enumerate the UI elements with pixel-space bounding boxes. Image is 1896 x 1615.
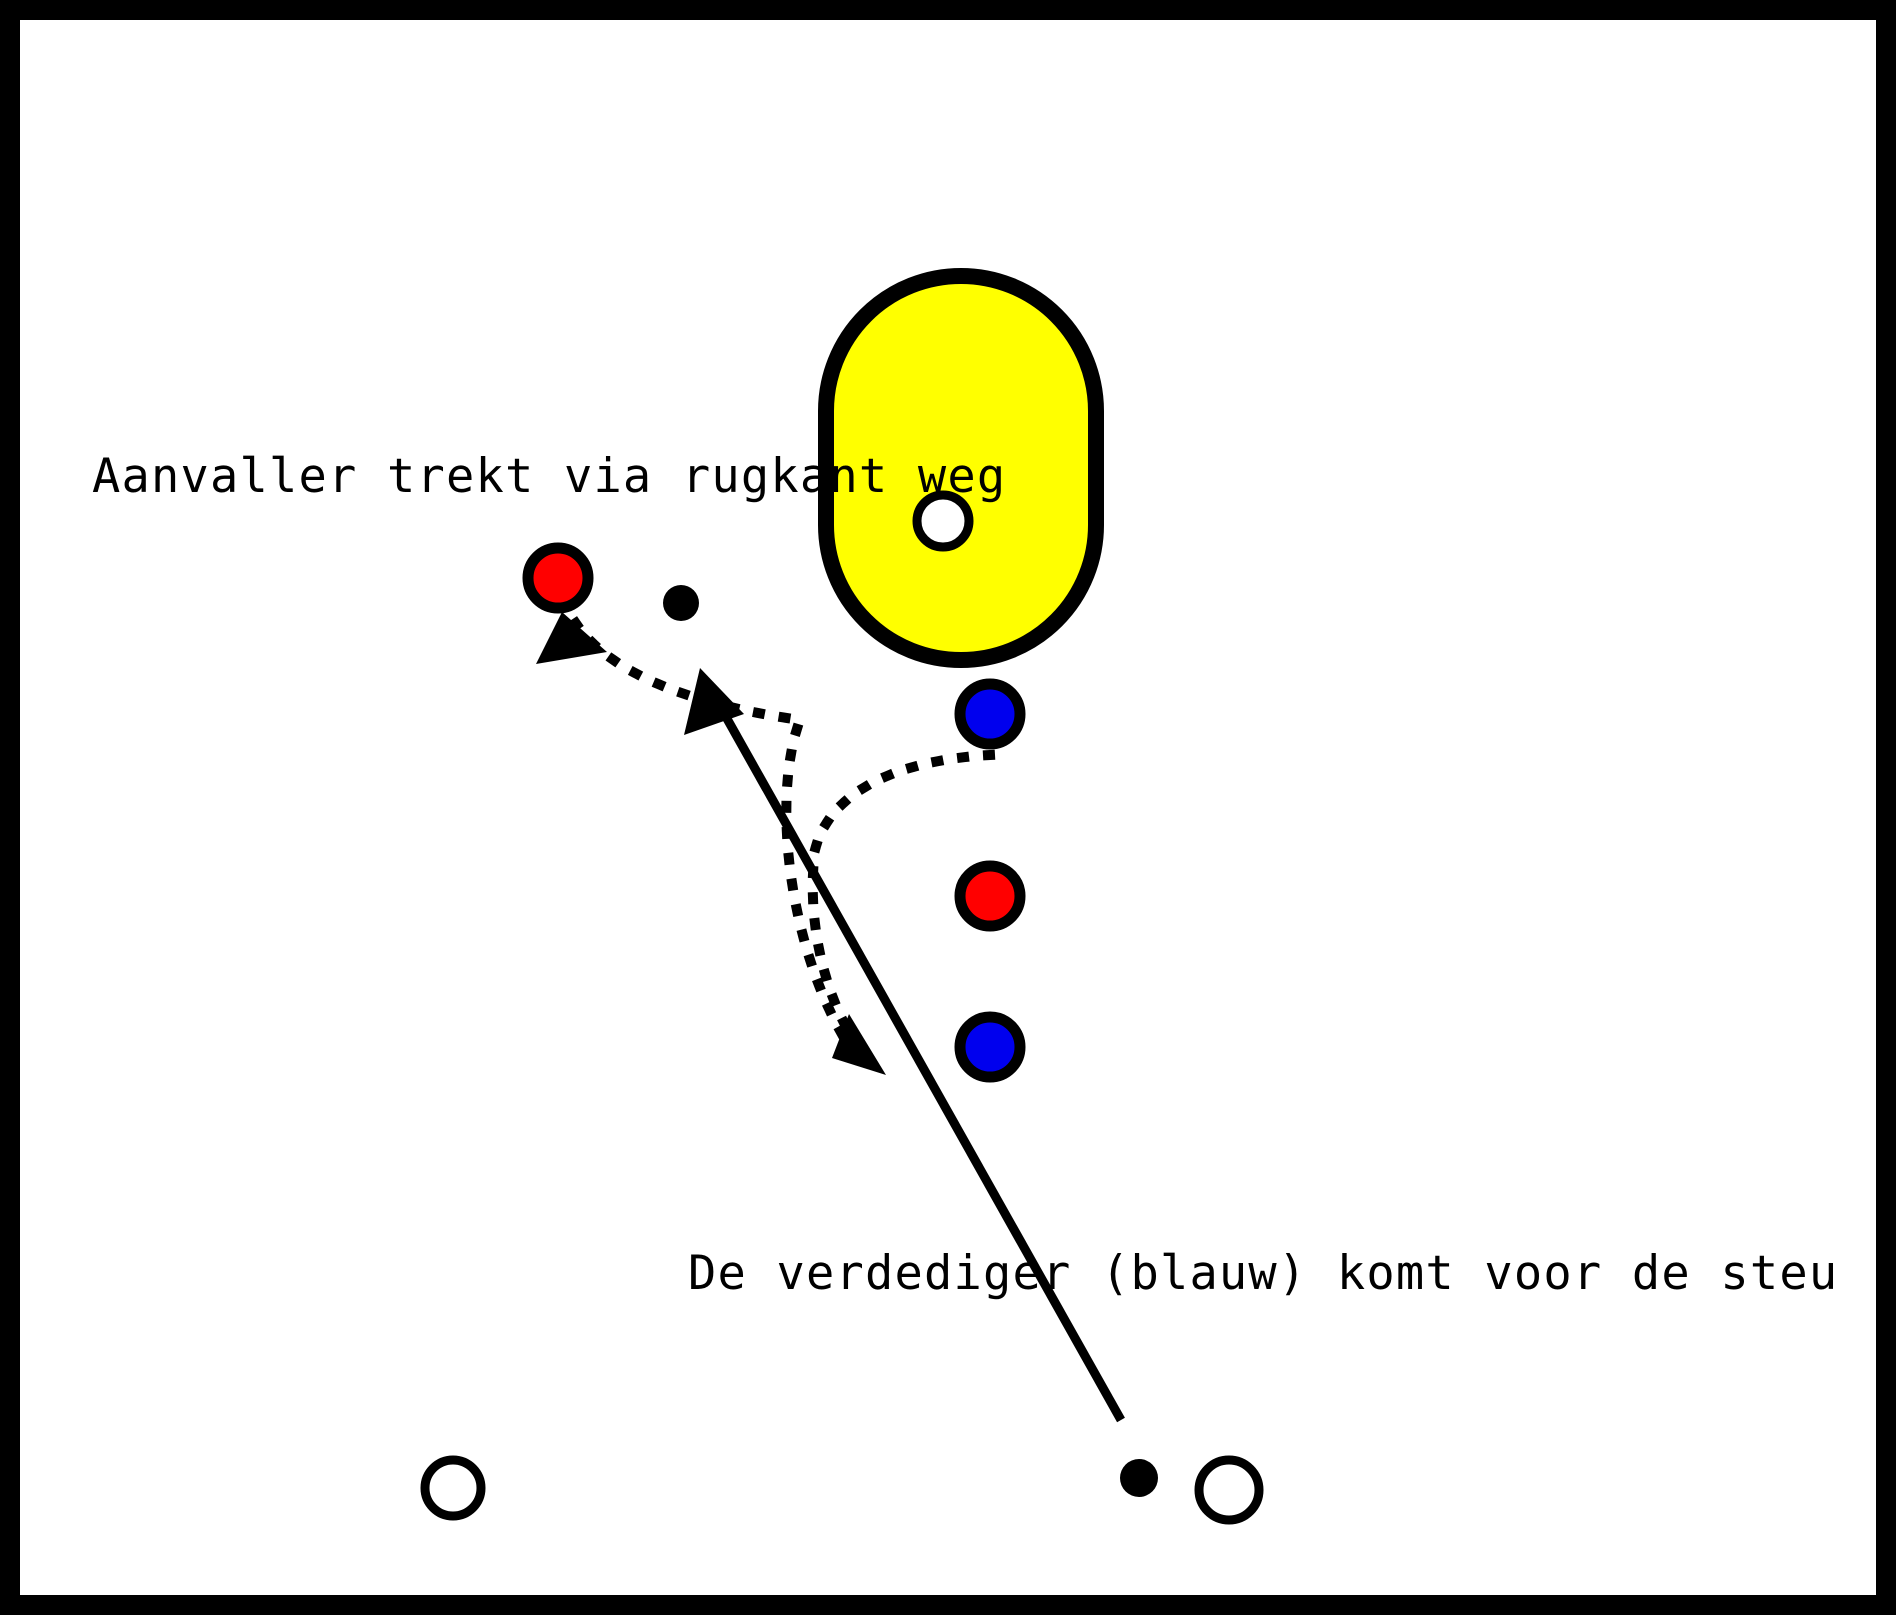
annotation-top-text: Aanvaller trekt via rugkant weg (92, 453, 1006, 500)
annotation-bottom-text: De verdediger (blauw) komt voor de steu (688, 1250, 1838, 1297)
diagram-court (20, 20, 1876, 1595)
tactics-diagram: Aanvaller trekt via rugkant weg De verde… (0, 0, 1896, 1615)
